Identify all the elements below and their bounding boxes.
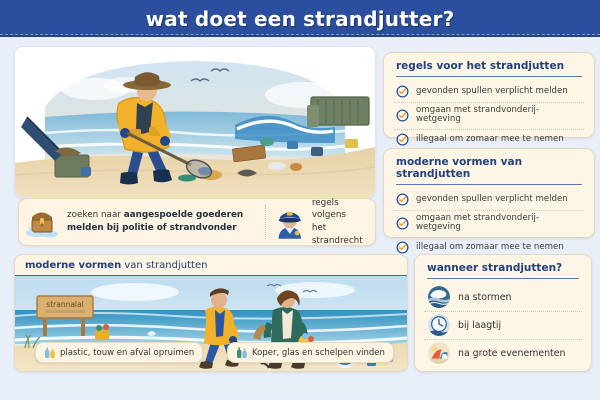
rules-panel-title: regels voor het strandjutten (384, 53, 594, 76)
list-item-label: na stormen (458, 292, 512, 303)
list-item[interactable]: omgaan met strandvonderij-wetgeving (394, 103, 584, 130)
rules-panel: regels voor het strandjutten gevonden sp… (383, 52, 595, 138)
list-item-label: gevonden spullen verplicht melden (416, 87, 568, 96)
check-circle-icon (396, 193, 409, 206)
bottom-caption-2-label: Koper, glas en schelpen vinden (252, 348, 385, 358)
list-item[interactable]: illegaal om zomaar mee te nemen (394, 130, 584, 150)
when-panel-title: wanneer strandjutten? (415, 255, 591, 278)
bottom-panel-title: moderne vormen van strandjutten (25, 260, 207, 271)
caption-left-line1-plain: zoeken naar (67, 210, 124, 220)
list-item-label: na grote evenementen (458, 348, 565, 359)
bottle-icon (44, 346, 56, 359)
svg-text:strannalal: strannalal (46, 300, 83, 309)
check-circle-icon (396, 109, 409, 122)
list-item[interactable]: omgaan met strandvonderij-wetgeving (394, 211, 584, 238)
beachcomber-scene (14, 46, 376, 198)
storm-cloud-icon (428, 286, 450, 308)
list-item[interactable]: na grote evenementen (424, 340, 582, 367)
captions-row: zoeken naar aangespoelde goederen melden… (18, 198, 376, 246)
treasure-chest-icon (25, 205, 61, 239)
modern-forms-list: gevonden spullen verplicht melden omgaan… (384, 190, 594, 264)
bottom-panel-title-rest: van strandjutten (121, 260, 207, 271)
list-item-label: omgaan met strandvonderij-wetgeving (416, 214, 582, 233)
list-item[interactable]: gevonden spullen verplicht melden (394, 190, 584, 211)
bottom-caption-2[interactable]: Koper, glas en schelpen vinden (227, 342, 394, 363)
list-item[interactable]: gevonden spullen verplicht melden (394, 82, 584, 103)
check-circle-icon (396, 133, 409, 146)
list-item-label: bij laagtij (458, 320, 501, 331)
page-title: wat doet een strandjutter? (146, 7, 455, 31)
modern-forms-panel: moderne vormen van strandjutten gevonden… (383, 148, 595, 238)
bottom-caption-1[interactable]: plastic, touw en afval opruimen (35, 342, 203, 363)
list-item-label: illegaal om zomaar mee te nemen (416, 135, 564, 144)
caption-right-text: regels volgens het strandrecht (312, 197, 375, 248)
infographic-page: wat doet een strandjutter? (0, 0, 600, 400)
bottom-scene-panel: moderne vormen van strandjutten (14, 254, 408, 372)
modern-forms-panel-rule (396, 184, 582, 185)
beach-ball-icon (428, 342, 450, 364)
when-panel: wanneer strandjutten? na stormen (414, 254, 592, 372)
caption-right-line2: het strandrecht (312, 222, 375, 248)
when-list: na stormen bij laagtij (415, 284, 591, 367)
caption-right: regels volgens het strandrecht (266, 197, 375, 248)
caption-left-text: zoeken naar aangespoelde goederen melden… (67, 209, 243, 235)
bottom-panel-header: moderne vormen van strandjutten (15, 255, 407, 276)
list-item-label: illegaal om zomaar mee te nemen (416, 243, 564, 252)
police-officer-icon (274, 204, 306, 240)
caption-left-line1-bold: aangespoelde goederen (124, 210, 243, 220)
caption-left-line2: melden bij politie of strandvonder (67, 223, 237, 233)
list-item-label: gevonden spullen verplicht melden (416, 195, 568, 204)
bottom-panel-title-bold: moderne vormen (25, 260, 121, 271)
check-circle-icon (396, 241, 409, 254)
when-panel-rule (427, 278, 579, 279)
caption-right-line1: regels volgens (312, 197, 375, 223)
bottom-caption-1-label: plastic, touw en afval opruimen (60, 348, 194, 358)
beach-illustration-svg (15, 47, 375, 197)
list-item[interactable]: bij laagtij (424, 312, 582, 340)
rules-panel-rule (396, 76, 582, 77)
caption-left: zoeken naar aangespoelde goederen melden… (19, 205, 265, 239)
check-circle-icon (396, 85, 409, 98)
modern-forms-panel-title: moderne vormen van strandjutten (384, 149, 594, 184)
check-circle-icon (396, 217, 409, 230)
header-divider (0, 34, 600, 35)
list-item-label: omgaan met strandvonderij-wetgeving (416, 106, 582, 125)
page-header: wat doet een strandjutter? (0, 0, 600, 37)
rules-list: gevonden spullen verplicht melden omgaan… (384, 82, 594, 156)
list-item[interactable]: na stormen (424, 284, 582, 312)
clock-icon (428, 314, 450, 336)
bottle-icon (236, 346, 248, 359)
